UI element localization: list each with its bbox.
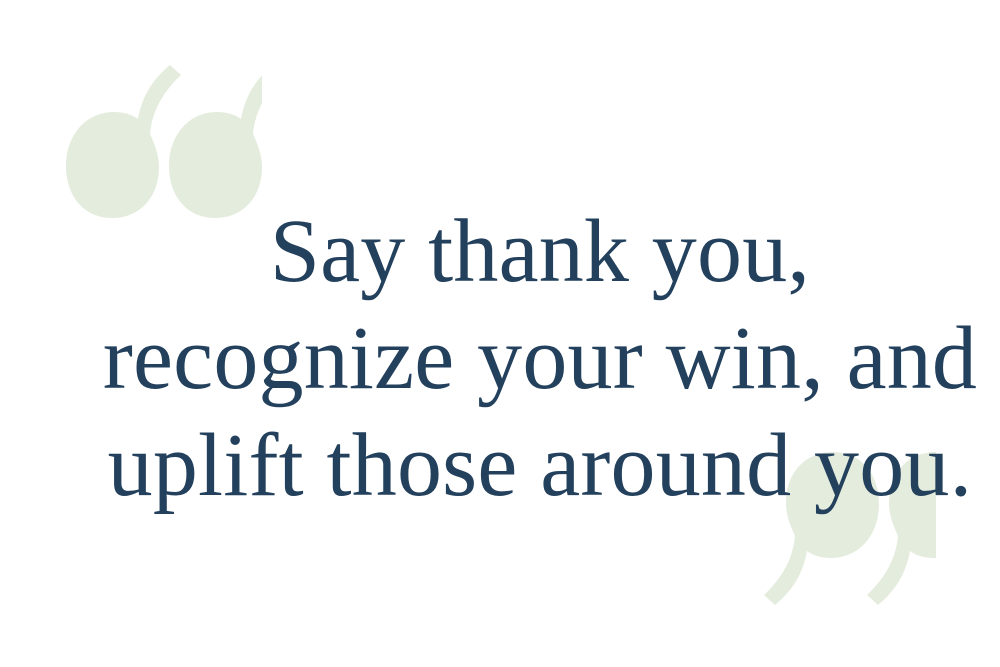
quote-card: Say thank you, recognize your win, and u… (0, 0, 1000, 667)
quote-line-3: uplift those around you. (40, 412, 1000, 519)
quote-text-block: Say thank you, recognize your win, and u… (40, 16, 1000, 667)
quote-line-2: recognize your win, and (40, 305, 1000, 412)
quote-line-1: Say thank you, (40, 198, 1000, 305)
